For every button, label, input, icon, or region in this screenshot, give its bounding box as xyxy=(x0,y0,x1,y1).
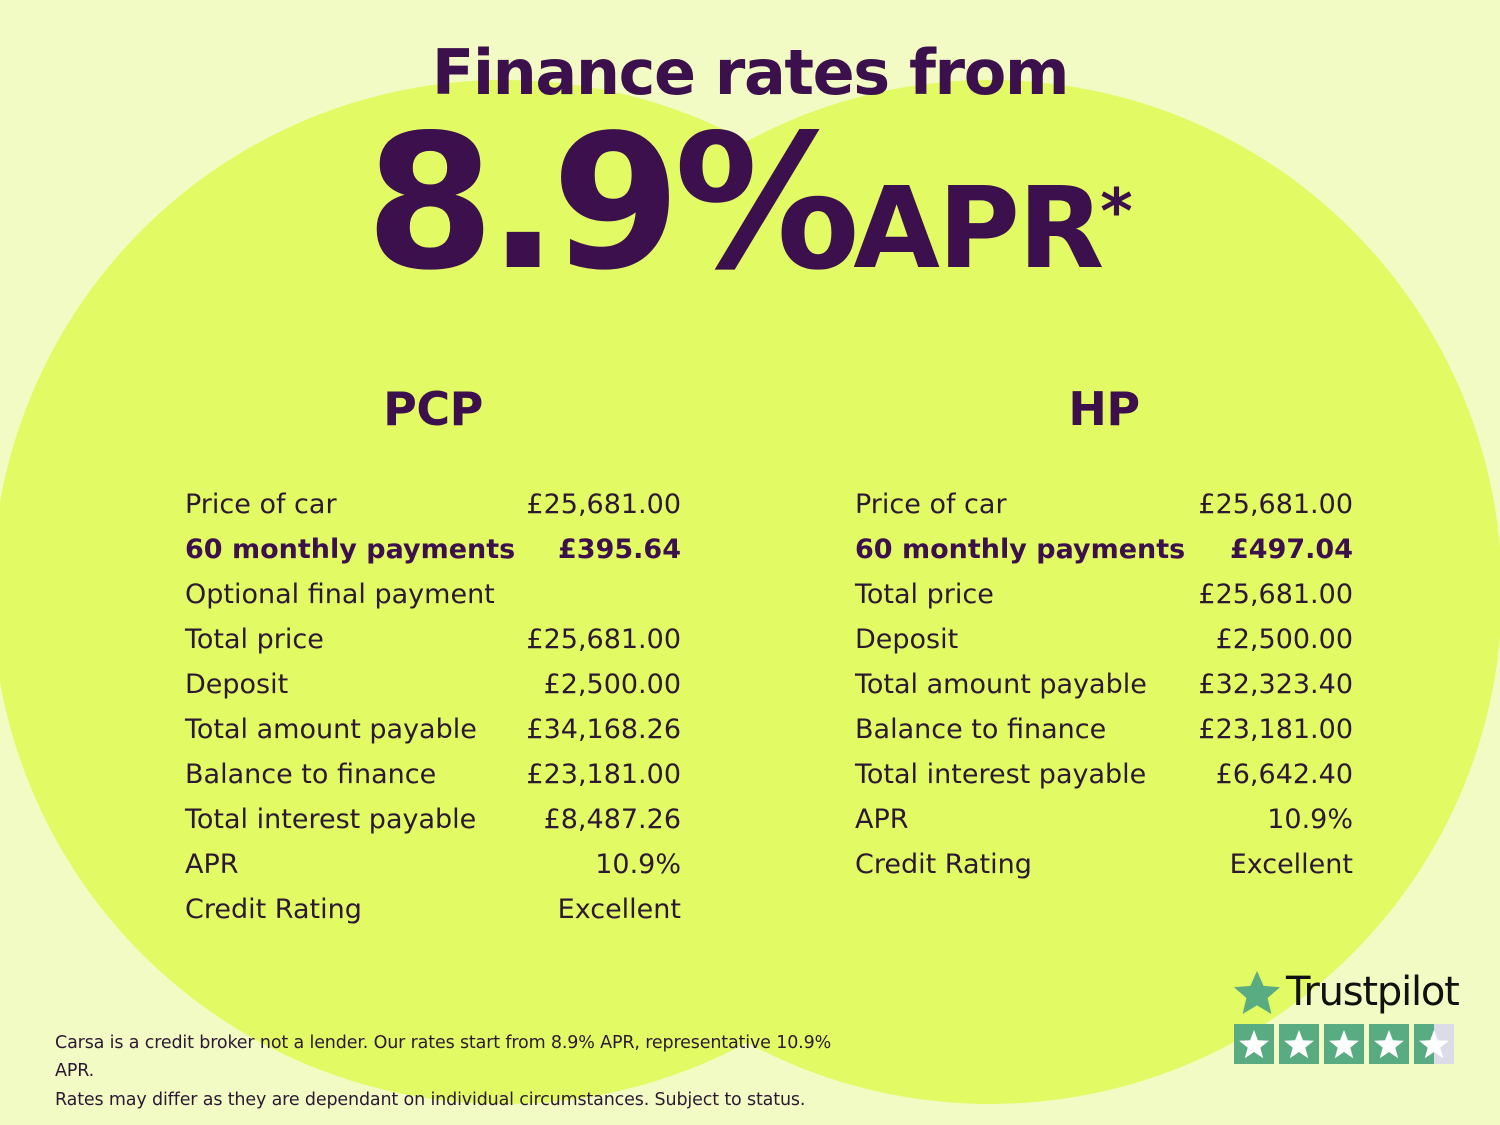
finance-table-hp: HP Price of car£25,681.0060 monthly paym… xyxy=(855,386,1353,887)
row-label: Total interest payable xyxy=(855,752,1146,797)
row-value: £6,642.40 xyxy=(1216,752,1353,797)
table-row: Total interest payable£8,487.26 xyxy=(185,797,681,842)
row-label: Total price xyxy=(855,572,994,617)
row-label: Balance to finance xyxy=(855,707,1106,752)
rating-star-icon xyxy=(1369,1024,1409,1064)
row-value: £32,323.40 xyxy=(1198,662,1353,707)
row-label: 60 monthly payments xyxy=(185,527,515,572)
row-label: 60 monthly payments xyxy=(855,527,1185,572)
row-label: APR xyxy=(185,842,239,887)
rating-star-icon xyxy=(1234,1024,1274,1064)
row-label: Total amount payable xyxy=(185,707,477,752)
disclaimer-line-2: Rates may differ as they are dependant o… xyxy=(55,1086,875,1114)
row-label: APR xyxy=(855,797,909,842)
table-row: 60 monthly payments£395.64 xyxy=(185,527,681,572)
row-label: Price of car xyxy=(185,482,337,527)
disclaimer: Carsa is a credit broker not a lender. O… xyxy=(55,1029,875,1114)
row-value: £23,181.00 xyxy=(526,752,681,797)
row-label: Total price xyxy=(185,617,324,662)
trustpilot-star-icon xyxy=(1234,970,1280,1014)
row-label: Deposit xyxy=(185,662,288,707)
table-row: Balance to finance£23,181.00 xyxy=(855,707,1353,752)
row-value: £497.04 xyxy=(1230,527,1353,572)
row-label: Price of car xyxy=(855,482,1007,527)
row-value: £25,681.00 xyxy=(526,617,681,662)
table-title-hp: HP xyxy=(855,386,1353,432)
table-title-pcp: PCP xyxy=(185,386,681,432)
table-row: 60 monthly payments£497.04 xyxy=(855,527,1353,572)
row-value: Excellent xyxy=(558,887,681,932)
row-value: £395.64 xyxy=(558,527,681,572)
table-row: Total amount payable£34,168.26 xyxy=(185,707,681,752)
rate-display: 8.9%APR* xyxy=(0,110,1500,296)
table-row: Total price£25,681.00 xyxy=(855,572,1353,617)
rate-value: 8.9% xyxy=(365,94,853,311)
table-row: Balance to finance£23,181.00 xyxy=(185,752,681,797)
row-label: Optional final payment xyxy=(185,572,495,617)
rating-star-icon xyxy=(1324,1024,1364,1064)
row-value: £34,168.26 xyxy=(526,707,681,752)
disclaimer-line-1: Carsa is a credit broker not a lender. O… xyxy=(55,1029,875,1086)
promo-banner: Finance rates from 8.9%APR* PCP Price of… xyxy=(0,0,1500,1125)
row-value: £25,681.00 xyxy=(1198,482,1353,527)
row-label: Total amount payable xyxy=(855,662,1147,707)
trustpilot-wordmark: Trustpilot xyxy=(1234,968,1454,1016)
row-value: £2,500.00 xyxy=(544,662,681,707)
table-row: Optional final payment xyxy=(185,572,681,617)
table-rows-hp: Price of car£25,681.0060 monthly payment… xyxy=(855,482,1353,887)
rate-unit: APR xyxy=(853,164,1102,294)
table-row: Total amount payable£32,323.40 xyxy=(855,662,1353,707)
trustpilot-stars xyxy=(1234,1024,1454,1064)
rating-star-icon xyxy=(1279,1024,1319,1064)
table-rows-pcp: Price of car£25,681.0060 monthly payment… xyxy=(185,482,681,932)
row-value: £8,487.26 xyxy=(544,797,681,842)
finance-table-pcp: PCP Price of car£25,681.0060 monthly pay… xyxy=(185,386,681,932)
row-label: Total interest payable xyxy=(185,797,476,842)
rate-asterisk: * xyxy=(1100,175,1132,248)
table-row: APR10.9% xyxy=(855,797,1353,842)
row-value: 10.9% xyxy=(1267,797,1353,842)
row-label: Credit Rating xyxy=(185,887,362,932)
trustpilot-rating[interactable]: Trustpilot xyxy=(1234,968,1454,1064)
rating-star-half-icon xyxy=(1414,1024,1454,1064)
row-value: Excellent xyxy=(1230,842,1353,887)
row-value: £23,181.00 xyxy=(1198,707,1353,752)
table-row: Price of car£25,681.00 xyxy=(185,482,681,527)
row-label: Credit Rating xyxy=(855,842,1032,887)
table-row: Deposit£2,500.00 xyxy=(185,662,681,707)
table-row: Total interest payable£6,642.40 xyxy=(855,752,1353,797)
table-row: Credit RatingExcellent xyxy=(855,842,1353,887)
row-value: £25,681.00 xyxy=(1198,572,1353,617)
table-row: Credit RatingExcellent xyxy=(185,887,681,932)
row-value: 10.9% xyxy=(595,842,681,887)
header: Finance rates from 8.9%APR* xyxy=(0,0,1500,296)
table-row: Deposit£2,500.00 xyxy=(855,617,1353,662)
trustpilot-name: Trustpilot xyxy=(1286,972,1459,1012)
table-row: APR10.9% xyxy=(185,842,681,887)
table-row: Total price£25,681.00 xyxy=(185,617,681,662)
row-label: Balance to finance xyxy=(185,752,436,797)
row-value: £25,681.00 xyxy=(526,482,681,527)
table-row: Price of car£25,681.00 xyxy=(855,482,1353,527)
row-value: £2,500.00 xyxy=(1216,617,1353,662)
row-label: Deposit xyxy=(855,617,958,662)
